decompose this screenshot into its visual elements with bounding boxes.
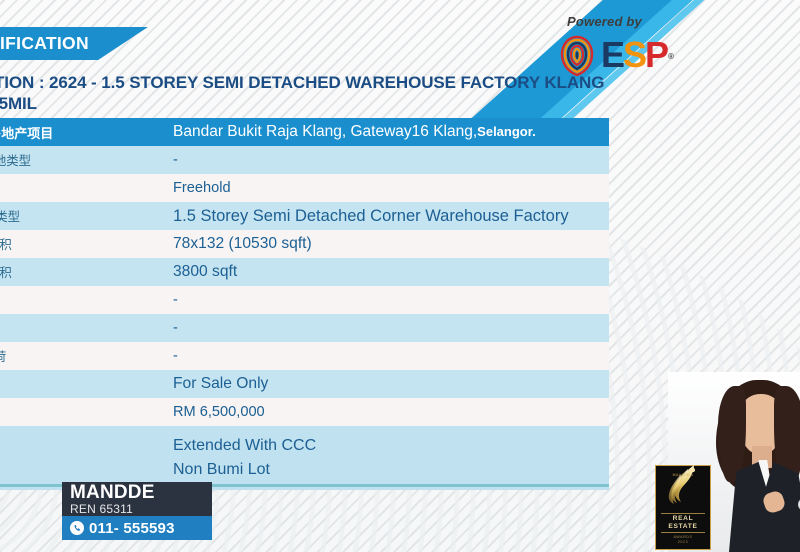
table-row: ly 月租 For Sale Only xyxy=(0,370,609,398)
row-label: ks 备注 xyxy=(0,449,170,467)
row-label: oading 地面负荷 xyxy=(0,347,170,365)
table-row: oading 地面负荷 - xyxy=(0,342,609,370)
agent-phone-number: 011- 555593 xyxy=(89,520,175,537)
slide-canvas: IFICATION TION : 2624 - 1.5 STOREY SEMI … xyxy=(0,0,800,552)
row-label: g Heights 高度 xyxy=(0,319,170,337)
row-value: - xyxy=(170,320,609,336)
table-row: up Area 建筑面积 3800 sqft xyxy=(0,258,609,286)
esp-logo: ESP® xyxy=(556,32,671,78)
row-value: For Sale Only xyxy=(170,375,609,393)
section-banner: IFICATION xyxy=(0,27,148,60)
registered-trademark-icon: ® xyxy=(668,52,672,61)
remarks-line-1: Extended With CCC xyxy=(173,434,609,458)
row-value: 3800 sqft xyxy=(170,263,609,281)
table-row: Price 卖价 RM 6,500,000 xyxy=(0,398,609,426)
row-value: 78x132 (10530 sqft) xyxy=(170,235,609,253)
esp-letter-s: S xyxy=(623,34,645,75)
table-row: Supply 电压 - xyxy=(0,286,609,314)
table-header-value: Bandar Bukit Raja Klang, Gateway16 Klang… xyxy=(170,123,609,141)
flame-icon xyxy=(664,463,702,513)
avatar-blazer xyxy=(704,458,800,552)
row-label: up Area 土地面积 xyxy=(0,235,170,253)
table-row: f Building 建筑类型 1.5 Storey Semi Detached… xyxy=(0,202,609,230)
agent-name-band: MANDDE REN 65311 xyxy=(62,482,212,516)
badge-title: REAL ESTATE xyxy=(661,513,705,533)
row-value: 1.5 Storey Semi Detached Corner Warehous… xyxy=(170,207,609,226)
header-value-text: Bandar Bukit Raja Klang, Gateway16 Klang… xyxy=(173,123,477,140)
section-banner-label: IFICATION xyxy=(0,33,89,54)
row-value: Freehold xyxy=(170,180,609,196)
page-title-line-1: TION : 2624 - 1.5 STOREY SEMI DETACHED W… xyxy=(0,72,634,93)
table-header-row: ct Property 房地产项目 Bandar Bukit Raja Klan… xyxy=(0,118,609,146)
esp-letter-e: E xyxy=(601,34,623,75)
badge-year: 2023 xyxy=(678,540,688,544)
row-label: 占有期 xyxy=(0,179,170,197)
agent-name: MANDDE xyxy=(62,483,212,502)
row-value: - xyxy=(170,292,609,308)
esp-letter-p: P xyxy=(645,34,667,75)
esp-brand-block: Powered by ESP® xyxy=(556,14,686,88)
agent-card: MALAYSIA REAL ESTATE xyxy=(650,372,800,552)
agent-phone-band[interactable]: 011- 555593 xyxy=(62,516,212,540)
esp-wordmark: ESP® xyxy=(601,37,671,73)
row-label: ory of Land 土地类型 xyxy=(0,151,170,169)
table-row: ory of Land 土地类型 - xyxy=(0,146,609,174)
table-row: 占有期 Freehold xyxy=(0,174,609,202)
row-label: up Area 建筑面积 xyxy=(0,263,170,281)
phone-icon xyxy=(70,521,84,535)
badge-top-text: MALAYSIA xyxy=(656,473,710,477)
row-label: Supply 电压 xyxy=(0,291,170,309)
specification-table: ct Property 房地产项目 Bandar Bukit Raja Klan… xyxy=(0,118,609,490)
page-title: TION : 2624 - 1.5 STOREY SEMI DETACHED W… xyxy=(0,72,634,114)
row-value: RM 6,500,000 xyxy=(170,404,609,420)
table-row: up Area 土地面积 78x132 (10530 sqft) xyxy=(0,230,609,258)
page-title-line-2: .5MIL xyxy=(0,93,634,114)
table-row: g Heights 高度 - xyxy=(0,314,609,342)
row-label: Price 卖价 xyxy=(0,403,170,421)
fingerprint-icon xyxy=(556,32,598,78)
remarks-line-2: Non Bumi Lot xyxy=(173,458,609,482)
row-label: f Building 建筑类型 xyxy=(0,207,170,225)
table-row-remarks: ks 备注 Extended With CCC Non Bumi Lot xyxy=(0,426,609,490)
real-estate-award-badge: MALAYSIA REAL ESTATE xyxy=(655,465,711,550)
table-header-label: ct Property 房地产项目 xyxy=(0,123,170,142)
row-value: - xyxy=(170,348,609,364)
badge-subtitle: AWARDS xyxy=(673,535,692,539)
powered-by-label: Powered by xyxy=(567,14,642,29)
avatar-hair-left xyxy=(718,386,746,482)
row-label: ly 月租 xyxy=(0,375,170,393)
row-value: - xyxy=(170,152,609,168)
header-value-state: Selangor. xyxy=(477,124,536,139)
row-value: Extended With CCC Non Bumi Lot xyxy=(170,434,609,482)
agent-ren-number: REN 65311 xyxy=(62,502,212,516)
